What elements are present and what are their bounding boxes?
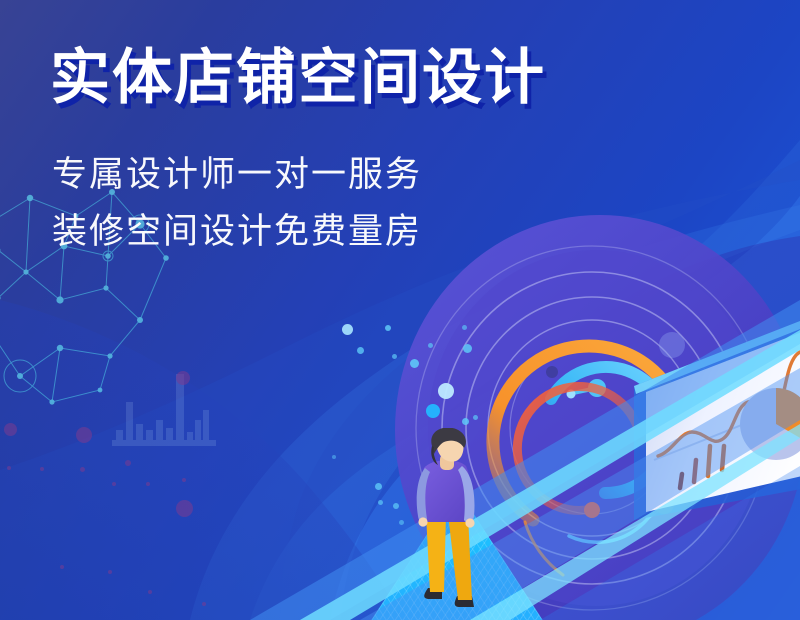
promo-banner: 实体店铺空间设计 专属设计师一对一服务 装修空间设计免费量房 — [0, 0, 800, 620]
subtitle-line-2: 装修空间设计免费量房 — [52, 204, 546, 261]
subtitle-line-1: 专属设计师一对一服务 — [52, 147, 546, 204]
standing-person — [398, 428, 508, 613]
hand-right — [465, 518, 474, 527]
leg-left — [426, 514, 446, 592]
page-title: 实体店铺空间设计 — [50, 44, 546, 111]
hand-left — [418, 517, 427, 526]
subtitle-list: 专属设计师一对一服务 装修空间设计免费量房 — [52, 147, 546, 260]
banner-text-block: 实体店铺空间设计 专属设计师一对一服务 装修空间设计免费量房 — [50, 44, 546, 261]
